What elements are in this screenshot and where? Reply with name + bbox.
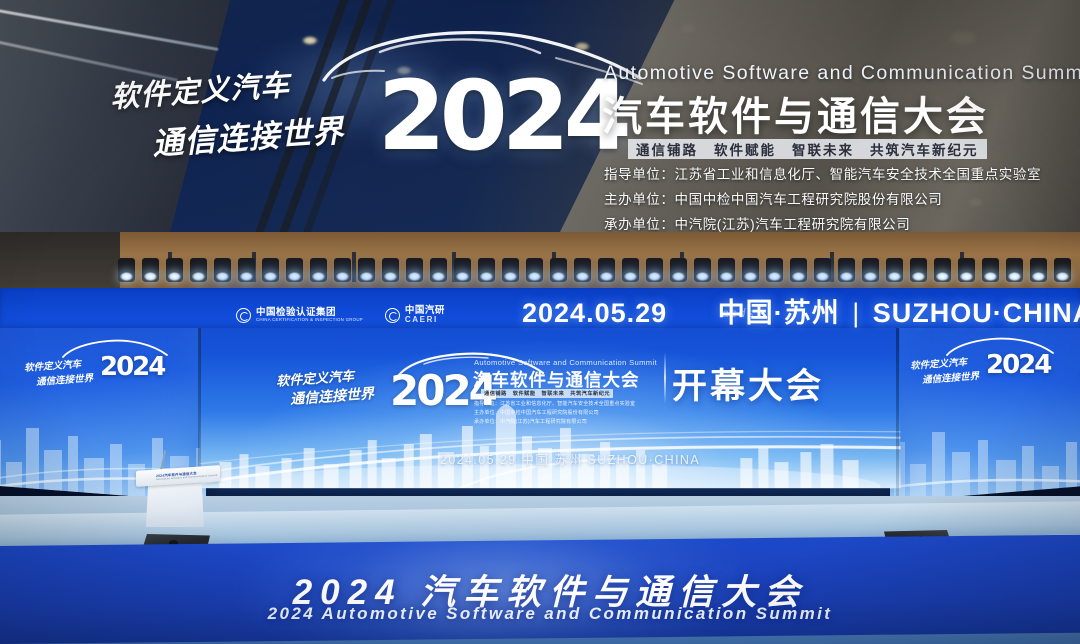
stage-light: [478, 258, 495, 282]
stage-light: [358, 258, 375, 282]
stage-light: [862, 258, 879, 282]
stage-light: [382, 258, 399, 282]
stage-light: [238, 258, 255, 282]
side-panel-kv-right: 软件定义汽车 通信连接世界 2024: [904, 342, 1054, 390]
stage-light: [838, 258, 855, 282]
organizer-line-guidance: 指导单位：江苏省工业和信息化厅、智能汽车安全技术全国重点实验室: [604, 163, 1041, 183]
front-panel-title-en: 2024 Automotive Software and Communicati…: [250, 604, 850, 624]
right-panel-skyline: [890, 392, 1080, 502]
stage-light: [574, 258, 591, 282]
stage-light: [262, 258, 279, 282]
led-date-location: 2024.05.29 中国·苏州 | SUZHOU·CHINA: [522, 291, 1080, 330]
stage-light: [718, 258, 735, 282]
stage-light: [310, 258, 327, 282]
organizer-line-guidance: 指导单位：江苏省工业和信息化厅、智能汽车安全技术全国重点实验室: [474, 400, 635, 407]
stage-light: [286, 258, 303, 282]
podium-body: [146, 481, 204, 527]
organizer-line-host: 主办单位：中国中检中国汽车工程研究院股份有限公司: [604, 188, 1041, 208]
lighting-truss: [0, 258, 1080, 290]
logo-name-en: CHINA CERTIFICATION & INSPECTION GROUP: [256, 318, 363, 323]
screen-key-visual: 软件定义汽车 通信连接世界 2024 Automotive Software a…: [268, 352, 660, 416]
organizer-line-organizer: 承办单位：中汽院(江苏)汽车工程研究院有限公司: [474, 418, 635, 425]
side-calligraphy-line2: 通信连接世界: [36, 370, 94, 388]
stage-light: [1006, 258, 1023, 282]
stage-light: [622, 258, 639, 282]
stage-light: [454, 258, 471, 282]
session-title: 开幕大会: [672, 358, 824, 409]
stage-light: [550, 258, 567, 282]
stage-light: [190, 258, 207, 282]
stage-light: [598, 258, 615, 282]
location-english: SUZHOU·CHINA: [873, 298, 1080, 328]
organizer-line-host: 主办单位：中国中检中国汽车工程研究院股份有限公司: [474, 409, 635, 416]
stage-light: [406, 258, 423, 282]
organizer-line-organizer: 承办单位：中汽院(江苏)汽车工程研究院有限公司: [604, 213, 1041, 232]
screen-date-line: 2024.05.29 中国·苏州 SUZHOU·CHINA: [440, 449, 700, 468]
stage-light: [118, 258, 135, 282]
stage-light: [214, 258, 231, 282]
caeri-logo-icon: [385, 308, 400, 323]
kv-tagline: 通信铺路 软件赋能 智联未来 共筑汽车新纪元: [628, 139, 987, 159]
screen-title-english: Automotive Software and Communication Su…: [474, 358, 657, 367]
sponsor-logos: 中国检验认证集团 CHINA CERTIFICATION & INSPECTIO…: [236, 306, 445, 324]
kv-title-english: Automotive Software and Communication Su…: [604, 62, 1080, 85]
logo-ccic: 中国检验认证集团 CHINA CERTIFICATION & INSPECTIO…: [236, 308, 363, 323]
tagline-item: 共筑汽车新纪元: [570, 390, 610, 397]
stage-light: [910, 258, 927, 282]
logo-name-en: CAERI: [405, 316, 445, 324]
stage-light: [670, 258, 687, 282]
stage-light: [982, 258, 999, 282]
stage-light: [742, 258, 759, 282]
kv-title-chinese: 汽车软件与通信大会: [602, 84, 989, 142]
stage-light: [526, 258, 543, 282]
tagline-item: 共筑汽车新纪元: [870, 139, 979, 159]
screen-divider: [664, 352, 666, 404]
stage-light: [886, 258, 903, 282]
ccic-logo-icon: [236, 308, 251, 323]
stage-light: [166, 258, 183, 282]
stage-light: [1030, 258, 1047, 282]
tagline-item: 智联未来: [792, 139, 854, 159]
stage-light: [814, 258, 831, 282]
stage-light: [790, 258, 807, 282]
tagline-item: 软件赋能: [513, 390, 536, 397]
location-separator: |: [848, 298, 864, 328]
podium: 2024汽车软件与通信大会 Automotive Software and Co…: [136, 468, 220, 538]
stage-light: [1054, 258, 1071, 282]
tagline-item: 软件赋能: [714, 139, 776, 159]
conference-stage-photo: 软件定义汽车 通信连接世界 2024 Automotive Software a…: [0, 0, 1080, 644]
stage-light: [502, 258, 519, 282]
side-panel-year: 2024: [986, 350, 1050, 380]
asds-watermark: asds: [722, 306, 755, 320]
main-key-visual-banner: 软件定义汽车 通信连接世界 2024 Automotive Software a…: [0, 0, 1080, 232]
side-panel-year: 2024: [100, 352, 164, 382]
stage-light: [430, 258, 447, 282]
stage-light: [694, 258, 711, 282]
truss-pole: [352, 252, 356, 282]
tagline-item: 通信铺路: [636, 139, 698, 159]
screen-organizers: 指导单位：江苏省工业和信息化厅、智能汽车安全技术全国重点实验室 主办单位：中国中…: [474, 400, 635, 425]
side-calligraphy-line2: 通信连接世界: [922, 368, 980, 386]
logo-caeri: 中国汽研 CAERI: [385, 306, 445, 324]
event-date: 2024.05.29: [522, 298, 667, 328]
stage-light: [934, 258, 951, 282]
stage-light: [766, 258, 783, 282]
kv-year: 2024: [378, 60, 626, 172]
screen-tagline: 通信铺路 软件赋能 智联未来 共筑汽车新纪元: [481, 389, 613, 398]
kv-organizers: 指导单位：江苏省工业和信息化厅、智能汽车安全技术全国重点实验室 主办单位：中国中…: [604, 163, 1041, 232]
stage-light: [142, 258, 159, 282]
stage-light: [334, 258, 351, 282]
tagline-item: 智联未来: [542, 390, 565, 397]
tagline-item: 通信铺路: [484, 390, 507, 397]
stage-light: [646, 258, 663, 282]
stage-light: [958, 258, 975, 282]
side-panel-kv-left: 软件定义汽车 通信连接世界 2024: [16, 344, 166, 392]
